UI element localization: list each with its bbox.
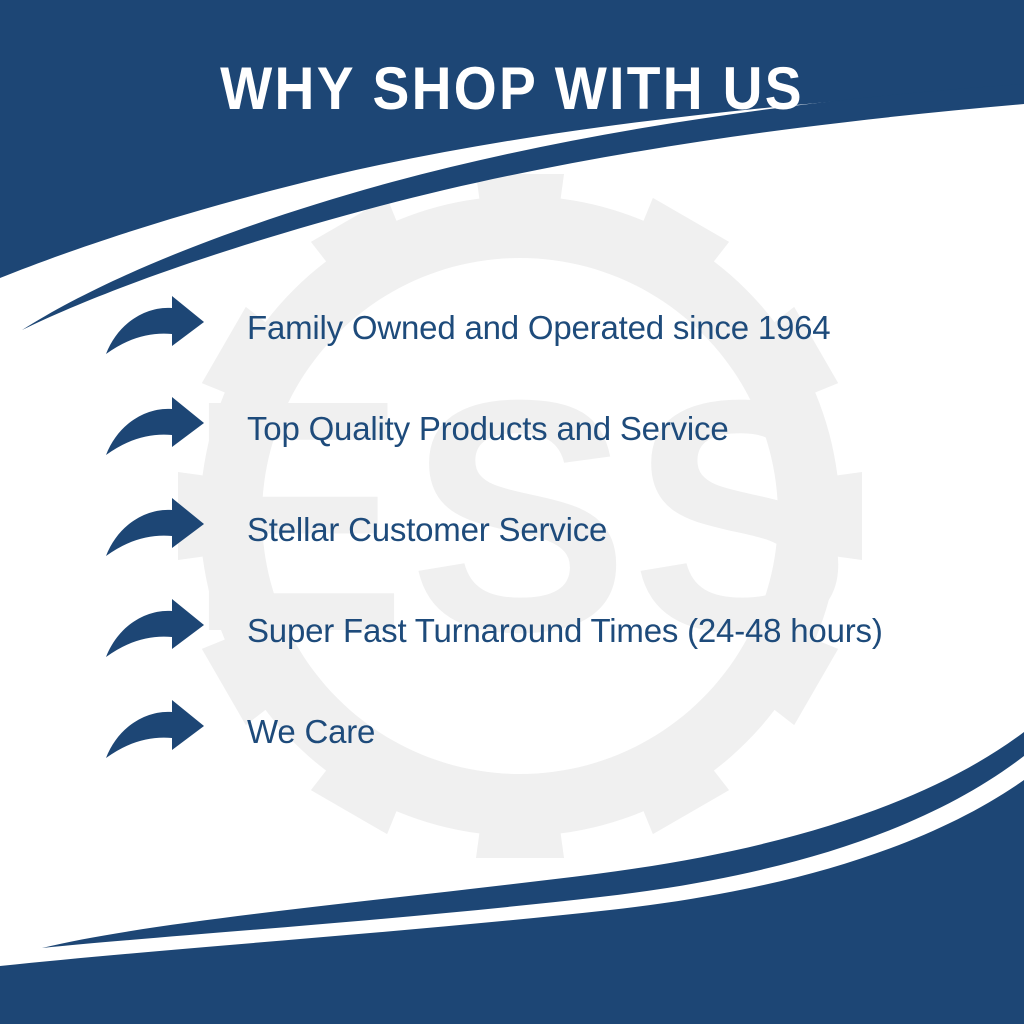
curved-arrow-icon <box>104 296 206 358</box>
curved-arrow-icon <box>104 498 206 560</box>
list-item: We Care <box>0 698 1024 799</box>
list-item: Family Owned and Operated since 1964 <box>0 294 1024 395</box>
list-item: Stellar Customer Service <box>0 496 1024 597</box>
list-item-label: Family Owned and Operated since 1964 <box>206 294 1024 344</box>
bottom-navy-band <box>0 780 1024 1024</box>
list-item-label: Top Quality Products and Service <box>206 395 1024 445</box>
list-item: Super Fast Turnaround Times (24-48 hours… <box>0 597 1024 698</box>
curved-arrow-icon <box>104 700 206 762</box>
list-item-label: Stellar Customer Service <box>206 496 1024 546</box>
benefits-list: Family Owned and Operated since 1964 Top… <box>0 294 1024 799</box>
page-title: WHY SHOP WITH US <box>41 54 983 123</box>
promo-graphic-canvas: ESS WHY SHOP WITH US Family Owned and Op… <box>0 0 1024 1024</box>
list-item-label: Super Fast Turnaround Times (24-48 hours… <box>206 597 1024 647</box>
list-item: Top Quality Products and Service <box>0 395 1024 496</box>
curved-arrow-icon <box>104 397 206 459</box>
top-navy-band <box>0 0 1024 278</box>
curved-arrow-icon <box>104 599 206 661</box>
list-item-label: We Care <box>206 698 1024 748</box>
